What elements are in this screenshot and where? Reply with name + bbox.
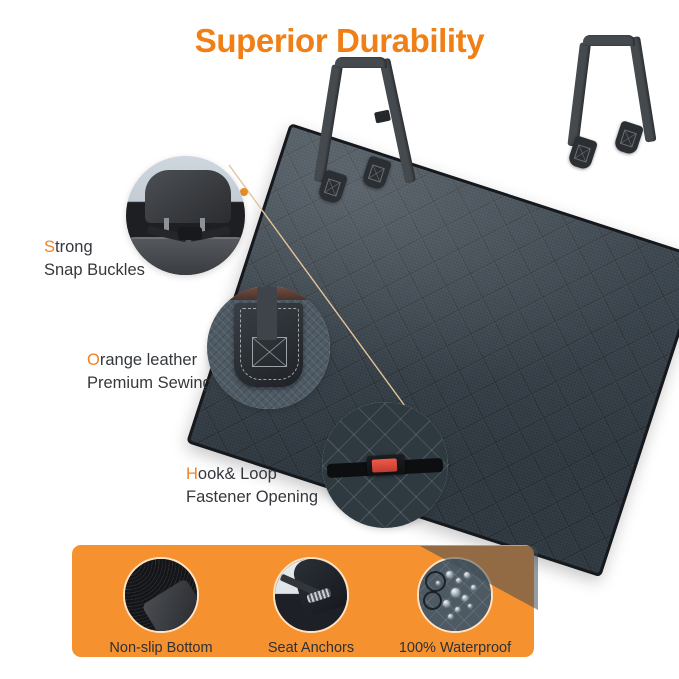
feature-label: Seat Anchors bbox=[236, 640, 386, 656]
feature-seat-anchors: Seat Anchors bbox=[236, 557, 386, 656]
callout-label-orange-leather: Orange leather Premium Sewing bbox=[87, 349, 212, 395]
callout-image-orange-leather bbox=[207, 286, 330, 409]
feature-non-slip-bottom: Non-slip Bottom bbox=[86, 557, 236, 656]
seatbelt-opening-photo bbox=[322, 402, 448, 528]
water-drop bbox=[448, 614, 453, 619]
callout-label-line1: Strong bbox=[44, 236, 145, 259]
callout-label-line2: Snap Buckles bbox=[44, 259, 145, 282]
callout-label-line1: Hook& Loop bbox=[186, 463, 318, 486]
callout-label-snap-buckles: Strong Snap Buckles bbox=[44, 236, 145, 282]
tab-webbing bbox=[257, 286, 277, 340]
label-text: range leather bbox=[100, 351, 197, 369]
seatbelt-release-button bbox=[372, 458, 398, 472]
callout-label-line2: Fastener Opening bbox=[186, 486, 318, 509]
label-text: trong bbox=[55, 238, 93, 256]
x-box-stitch bbox=[252, 337, 287, 367]
velcro-fabric-icon bbox=[123, 557, 199, 633]
strap-webbing bbox=[567, 42, 591, 147]
leather-tab-photo bbox=[207, 286, 330, 409]
callout-label-line1: Orange leather bbox=[87, 349, 212, 372]
water-ring bbox=[423, 591, 442, 610]
water-drop bbox=[471, 585, 476, 590]
snap-buckle bbox=[178, 227, 202, 240]
callout-label-hook-loop: Hook& Loop Fastener Opening bbox=[186, 463, 318, 509]
strap-adjuster bbox=[374, 110, 391, 124]
strap-anchor-tab bbox=[613, 120, 644, 156]
product-infographic: Superior Durability bbox=[0, 0, 679, 679]
headrest-pad bbox=[145, 170, 231, 222]
callout-image-hook-loop bbox=[322, 402, 448, 528]
highlight-letter: H bbox=[186, 465, 198, 483]
feature-label: Non-slip Bottom bbox=[86, 640, 236, 656]
water-drop bbox=[456, 578, 461, 583]
water-drop bbox=[446, 571, 453, 578]
feature-banner: Non-slip Bottom Seat Anchors bbox=[72, 545, 534, 657]
strap-loop-top bbox=[335, 57, 387, 68]
water-drop bbox=[451, 588, 460, 597]
highlight-letter: S bbox=[44, 238, 55, 256]
waterproof-photo bbox=[419, 559, 491, 631]
anchor-photo bbox=[275, 559, 347, 631]
water-drop bbox=[462, 595, 468, 601]
feature-waterproof: 100% Waterproof bbox=[380, 557, 530, 656]
highlight-letter: O bbox=[87, 351, 100, 369]
water-drop bbox=[455, 607, 460, 612]
callout-label-line2: Premium Sewing bbox=[87, 372, 212, 395]
label-text: ook& Loop bbox=[198, 465, 277, 483]
strap-loop-top bbox=[583, 35, 635, 46]
water-drop bbox=[468, 604, 472, 608]
water-drop bbox=[443, 600, 450, 607]
seat-anchor-icon bbox=[273, 557, 349, 633]
water-droplets-icon bbox=[417, 557, 493, 633]
feature-label: 100% Waterproof bbox=[380, 640, 530, 656]
water-drop bbox=[464, 572, 470, 578]
